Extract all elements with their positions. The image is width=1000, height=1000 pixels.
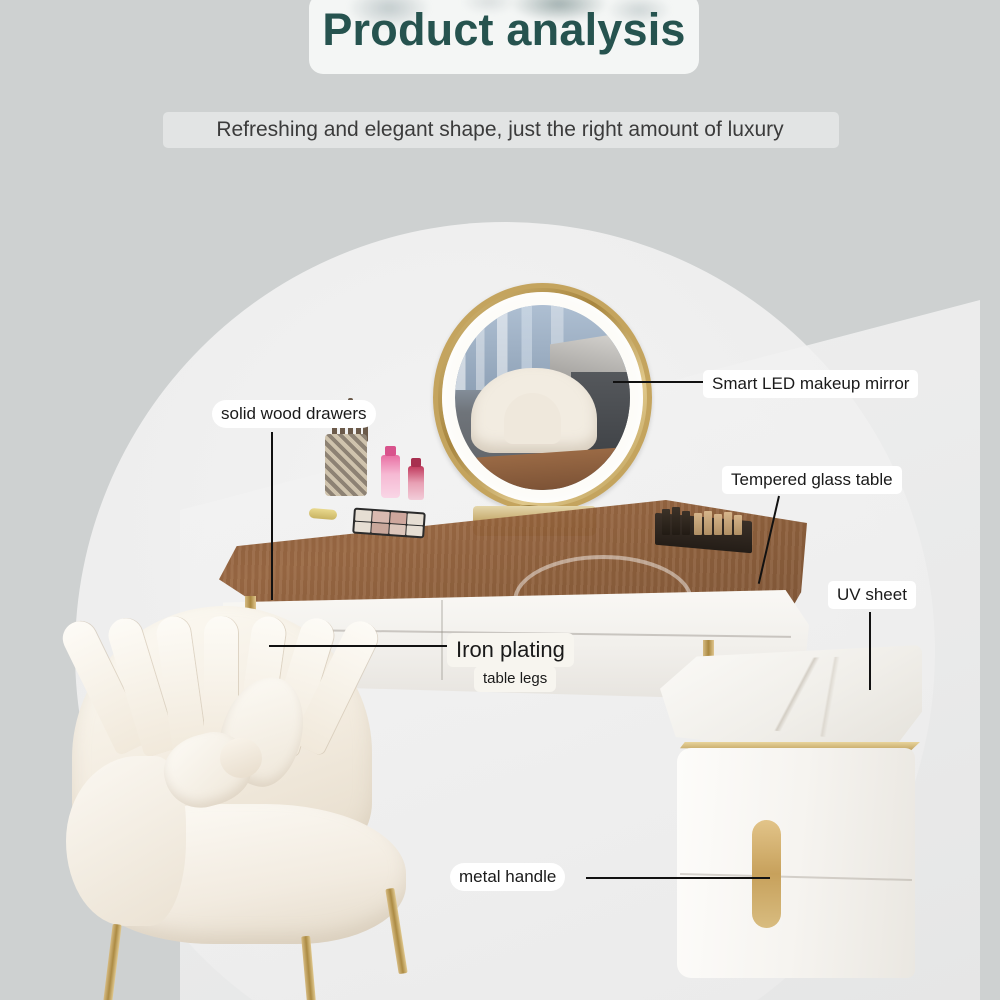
annotation-smart-led-makeup-mirror: Smart LED makeup mirror bbox=[703, 370, 918, 398]
page-subtitle: Refreshing and elegant shape, just the r… bbox=[0, 118, 1000, 142]
bow-pillow bbox=[164, 676, 312, 806]
annotation-iron-plating-sub: table legs bbox=[474, 666, 556, 692]
eyeshadow-palette bbox=[352, 508, 426, 539]
leader-iron-plating bbox=[269, 645, 447, 647]
leader-metal-handle bbox=[586, 877, 770, 879]
annotation-metal-handle: metal handle bbox=[450, 863, 565, 891]
pink-cosmetic-bottle bbox=[381, 455, 400, 498]
annotation-iron-plating: Iron plating bbox=[447, 633, 574, 667]
red-cosmetic-bottle bbox=[408, 466, 424, 500]
leader-solid-wood-drawers bbox=[271, 432, 273, 600]
page-title: Product analysis bbox=[309, 4, 699, 56]
annotation-uv-sheet: UV sheet bbox=[828, 581, 916, 609]
chair-leg-front-right bbox=[301, 936, 316, 1000]
annotation-solid-wood-drawers: solid wood drawers bbox=[212, 400, 376, 428]
brush-holder bbox=[325, 434, 367, 496]
side-cabinet-body bbox=[677, 748, 915, 978]
pillow-knot bbox=[220, 738, 262, 778]
cosmetics-tray-items bbox=[660, 505, 752, 535]
infographic-page: Product analysis Refreshing and elegant … bbox=[0, 0, 1000, 1000]
leader-uv-sheet bbox=[869, 612, 871, 690]
metal-handle-hardware bbox=[752, 820, 781, 928]
title-panel: Product analysis bbox=[309, 0, 699, 74]
accent-chair bbox=[62, 606, 422, 996]
drawer-seam-vertical bbox=[441, 600, 443, 680]
chair-leg-front-left bbox=[103, 924, 121, 1000]
leader-smart-led-makeup-mirror bbox=[613, 381, 703, 383]
annotation-tempered-glass-table: Tempered glass table bbox=[722, 466, 902, 494]
led-makeup-mirror bbox=[433, 283, 652, 512]
mirror-glass-reflection bbox=[455, 305, 630, 490]
